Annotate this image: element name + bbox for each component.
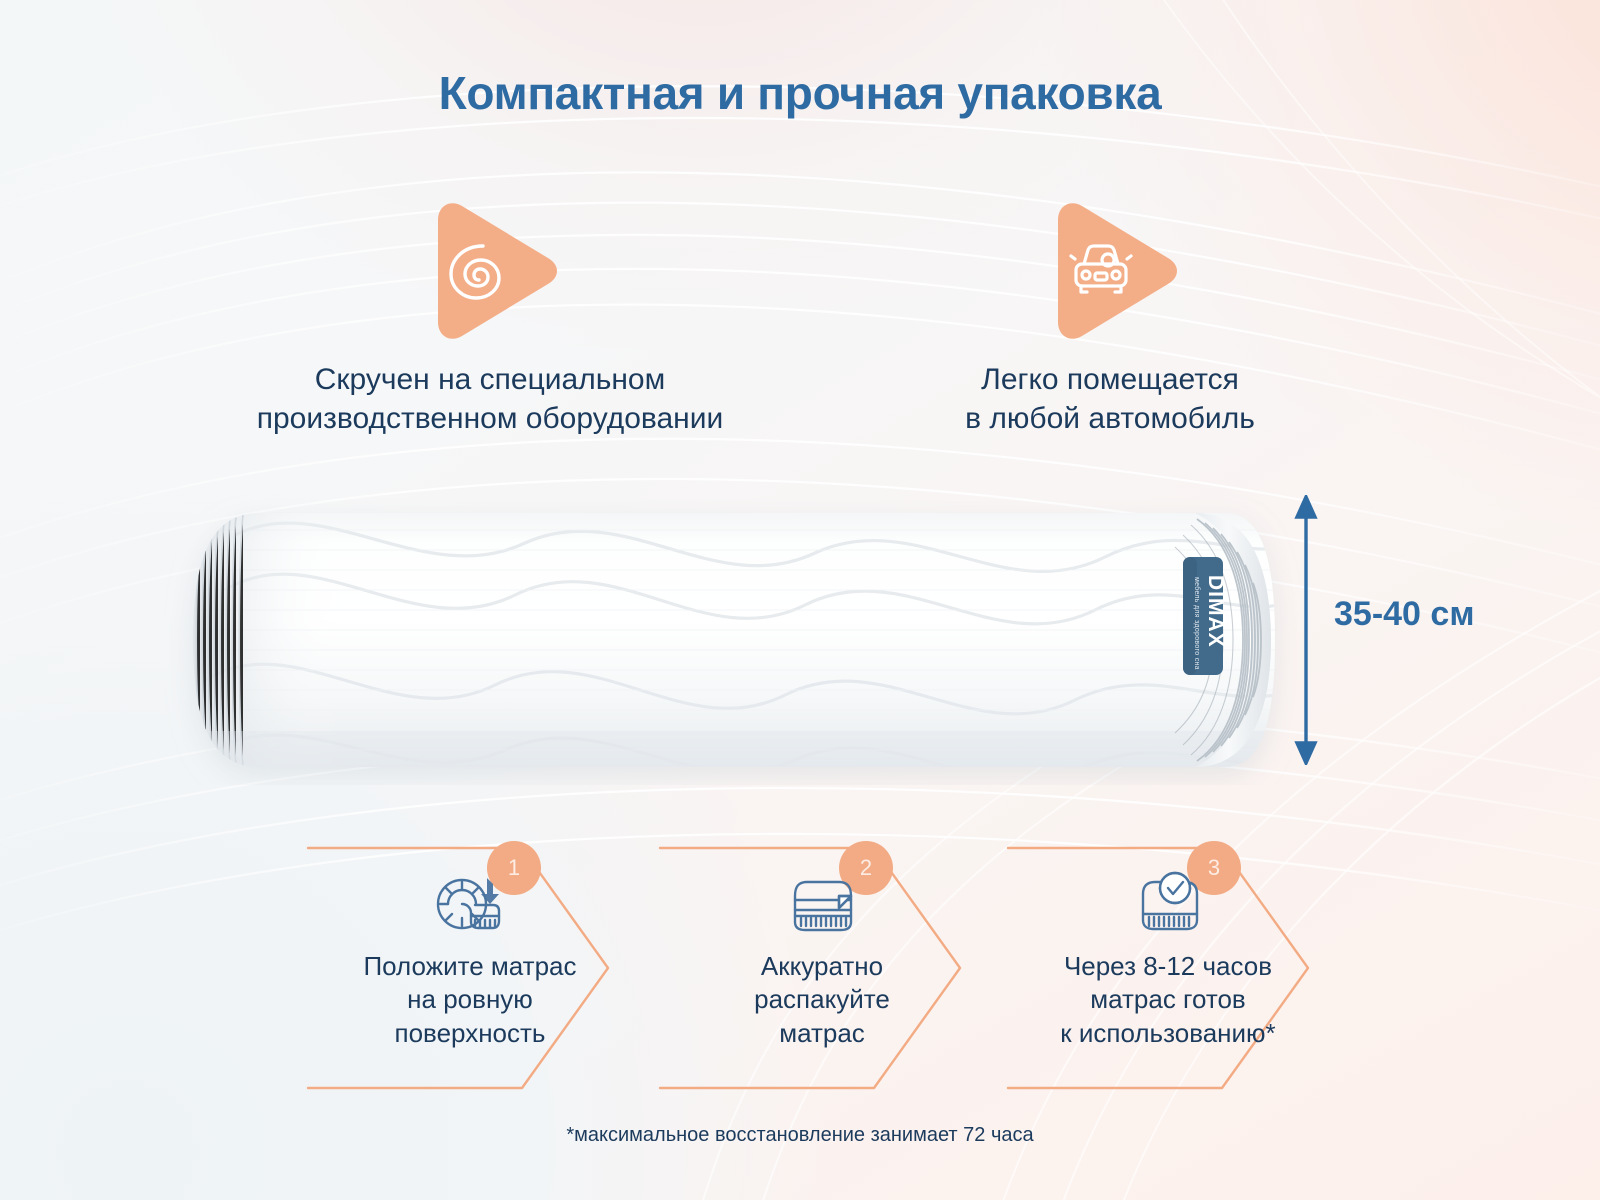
step-card-3: 3 Через 8-12 часов матрас готов к исполь… [990,842,1350,1094]
step-card-2: 2 Аккуратно распакуйте матрас [642,842,1002,1094]
feature-block-car: Легко помещается в любой автомобиль [840,196,1380,438]
feature-text: Легко помещается в любой автомобиль [840,360,1380,438]
feature-icon-container [840,196,1380,346]
step-text-line-1: Через 8-12 часов [990,950,1346,983]
step-text-line-2: матрас готов [990,983,1346,1016]
step-text: Через 8-12 часов матрас готов к использо… [990,950,1350,1050]
footnote: *максимальное восстановление занимает 72… [0,1124,1600,1147]
feature-text-line-1: Легко помещается [840,360,1380,399]
mattress-roll-image: DIMAX мебель для здорового сна [165,495,1300,785]
feature-text-line-2: в любой автомобиль [840,399,1380,438]
step-card-1: 1 Положите матрас на ровную поверхность [290,842,650,1094]
feature-text: Скручен на специальном производственном … [180,360,800,438]
steps-container: 1 Положите матрас на ровную поверхность … [290,842,1300,1094]
rounded-triangle-badge [1036,198,1184,344]
step-text-line-2: распакуйте [642,983,1002,1016]
feature-text-line-2: производственном оборудовании [180,399,800,438]
car-icon [1062,232,1140,310]
step-text: Аккуратно распакуйте матрас [642,950,1002,1050]
dimension-label: 35-40 см [1334,595,1474,634]
unwrap-mattress-icon [783,866,861,944]
step-text-line-3: к использованию* [990,1017,1346,1050]
feature-block-rolled: Скручен на специальном производственном … [180,196,800,438]
step-text: Положите матрас на ровную поверхность [290,950,650,1050]
rolled-mattress-icon [431,866,509,944]
feature-icon-container [180,196,800,346]
dimension-indicator: 35-40 см [1290,495,1550,765]
svg-text:DIMAX: DIMAX [1204,575,1227,648]
spiral-icon [442,232,520,310]
step-text-line-2: на ровную [290,983,650,1016]
step-text-line-1: Аккуратно [642,950,1002,983]
svg-text:мебель для здорового сна: мебель для здорового сна [1193,577,1201,670]
step-text-line-3: поверхность [290,1017,650,1050]
mattress-check-icon [1131,866,1209,944]
page-title: Компактная и прочная упаковка [0,66,1600,120]
step-text-line-1: Положите матрас [290,950,650,983]
step-text-line-3: матрас [642,1017,1002,1050]
dimax-label-tag: DIMAX мебель для здорового сна [1183,557,1227,675]
rounded-triangle-badge [416,198,564,344]
feature-text-line-1: Скручен на специальном [180,360,800,399]
